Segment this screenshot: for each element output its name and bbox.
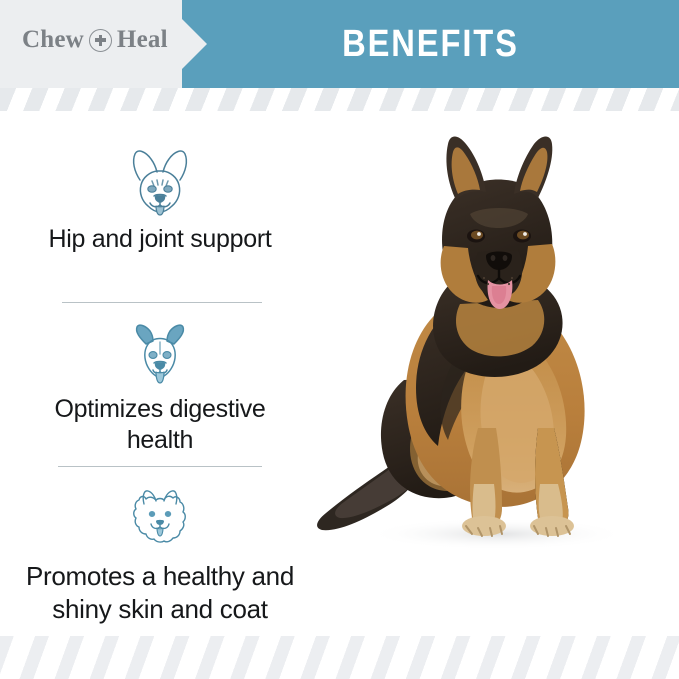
terrier-dog-face-icon	[0, 312, 320, 390]
benefit-label: Promotes a healthy and shiny skin and co…	[2, 560, 318, 626]
benefit-item-hip-and-joint: Hip and joint support	[0, 142, 320, 255]
benefit-divider-2	[58, 466, 262, 467]
brand-name-first: Chew	[22, 26, 84, 54]
brand-name-second: Heal	[117, 26, 168, 54]
benefit-item-digestive-health: Optimizes digestive health	[0, 312, 320, 456]
german-shepherd-photo	[292, 128, 679, 552]
benefit-divider-1	[62, 302, 262, 303]
benefit-label: Optimizes digestive health	[30, 394, 290, 456]
circled-plus-icon	[89, 29, 112, 52]
benefit-label: Hip and joint support	[45, 224, 275, 255]
header-bar: Chew Heal BENEFITS	[0, 0, 679, 88]
brand-logo: Chew Heal	[22, 26, 192, 54]
diagonal-stripe-band-bottom	[0, 636, 679, 679]
brand-logo-panel: Chew Heal	[0, 0, 210, 88]
diagonal-stripe-band-top	[0, 88, 679, 111]
page-title: BENEFITS	[217, 0, 644, 88]
benefit-item-skin-and-coat: Promotes a healthy and shiny skin and co…	[0, 478, 320, 626]
benefits-list: Hip and joint support	[0, 120, 320, 630]
fluffy-dog-face-icon	[0, 478, 320, 556]
corgi-dog-face-icon	[0, 142, 320, 220]
infographic-canvas: Chew Heal BENEFITS	[0, 0, 679, 679]
